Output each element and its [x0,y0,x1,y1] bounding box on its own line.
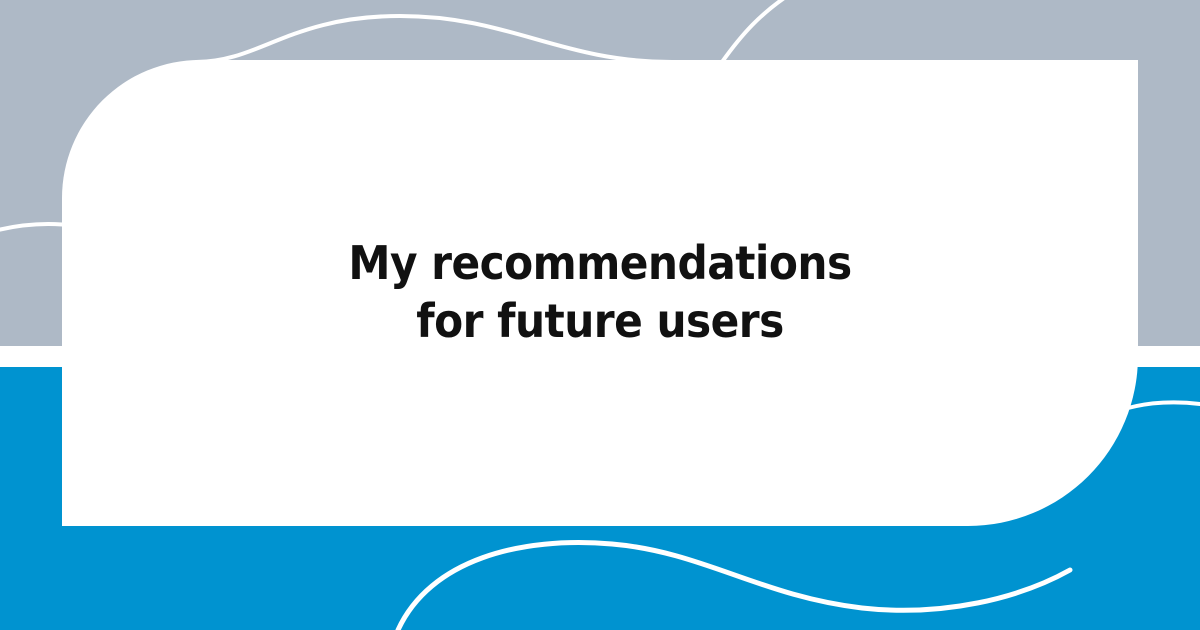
page-title: My recommendations for future users [324,235,876,351]
quote-card-canvas: My recommendations for future users [0,0,1200,630]
headline-container: My recommendations for future users [62,60,1138,526]
